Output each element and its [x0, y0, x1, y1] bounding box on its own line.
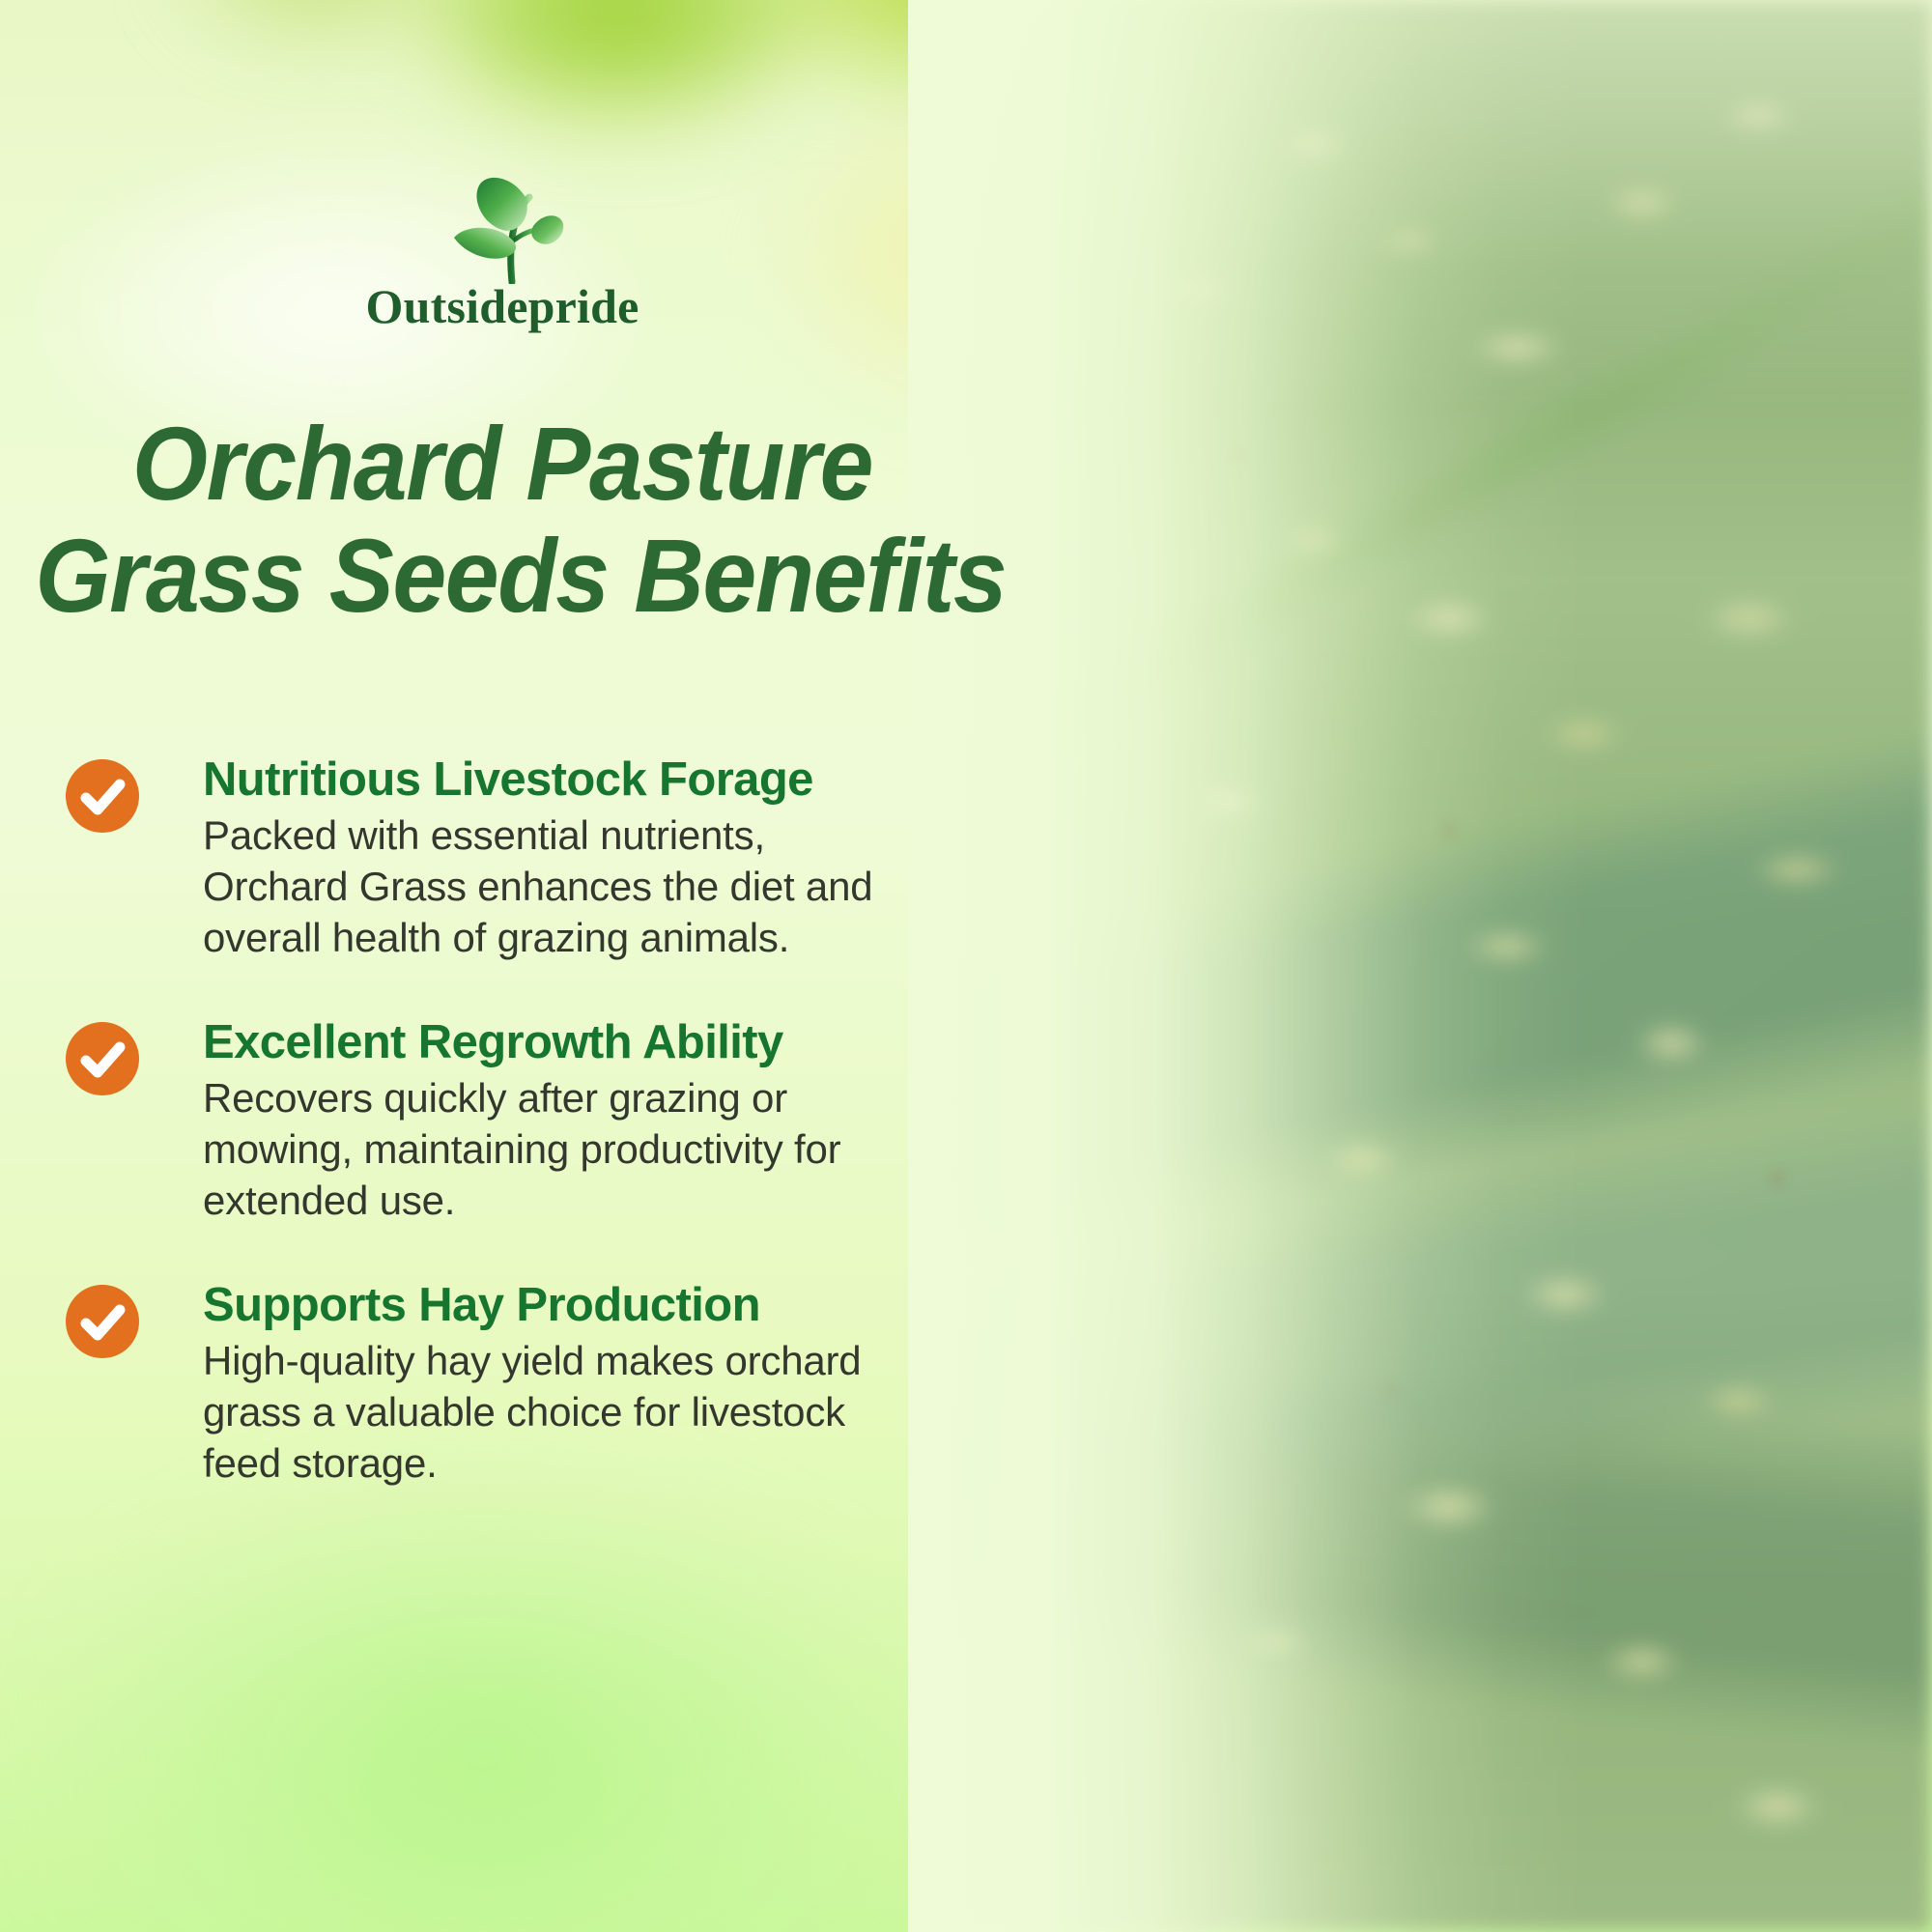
- check-circle-icon: [66, 759, 139, 833]
- benefit-item: Nutritious Livestock Forage Packed with …: [66, 755, 935, 997]
- grass-photo: [908, 0, 1932, 1932]
- benefit-title: Excellent Regrowth Ability: [203, 1018, 935, 1067]
- plant-sprout-icon: [0, 170, 1005, 284]
- infographic-canvas: Outsidepride Orchard Pasture Grass Seeds…: [0, 0, 1932, 1932]
- benefit-item: Excellent Regrowth Ability Recovers quic…: [66, 1018, 935, 1260]
- page-title-line-1: Orchard Pasture: [35, 408, 969, 520]
- page-title: Orchard Pasture Grass Seeds Benefits: [35, 408, 969, 631]
- benefit-description: High-quality hay yield makes orchard gra…: [203, 1336, 918, 1490]
- grass-photo-left-fade: [908, 0, 1932, 1932]
- benefit-title: Nutritious Livestock Forage: [203, 755, 935, 805]
- brand-logo: Outsidepride: [0, 170, 1005, 334]
- brand-name: Outsidepride: [0, 278, 1005, 334]
- benefit-description: Packed with essential nutrients, Orchard…: [203, 810, 918, 964]
- content-panel: Outsidepride Orchard Pasture Grass Seeds…: [0, 0, 1005, 1932]
- check-circle-icon: [66, 1285, 139, 1358]
- benefit-description: Recovers quickly after grazing or mowing…: [203, 1073, 918, 1227]
- check-circle-icon: [66, 1022, 139, 1095]
- benefit-item: Supports Hay Production High-quality hay…: [66, 1281, 935, 1522]
- benefit-title: Supports Hay Production: [203, 1281, 935, 1330]
- benefits-list: Nutritious Livestock Forage Packed with …: [66, 755, 935, 1522]
- page-title-line-2: Grass Seeds Benefits: [35, 520, 969, 632]
